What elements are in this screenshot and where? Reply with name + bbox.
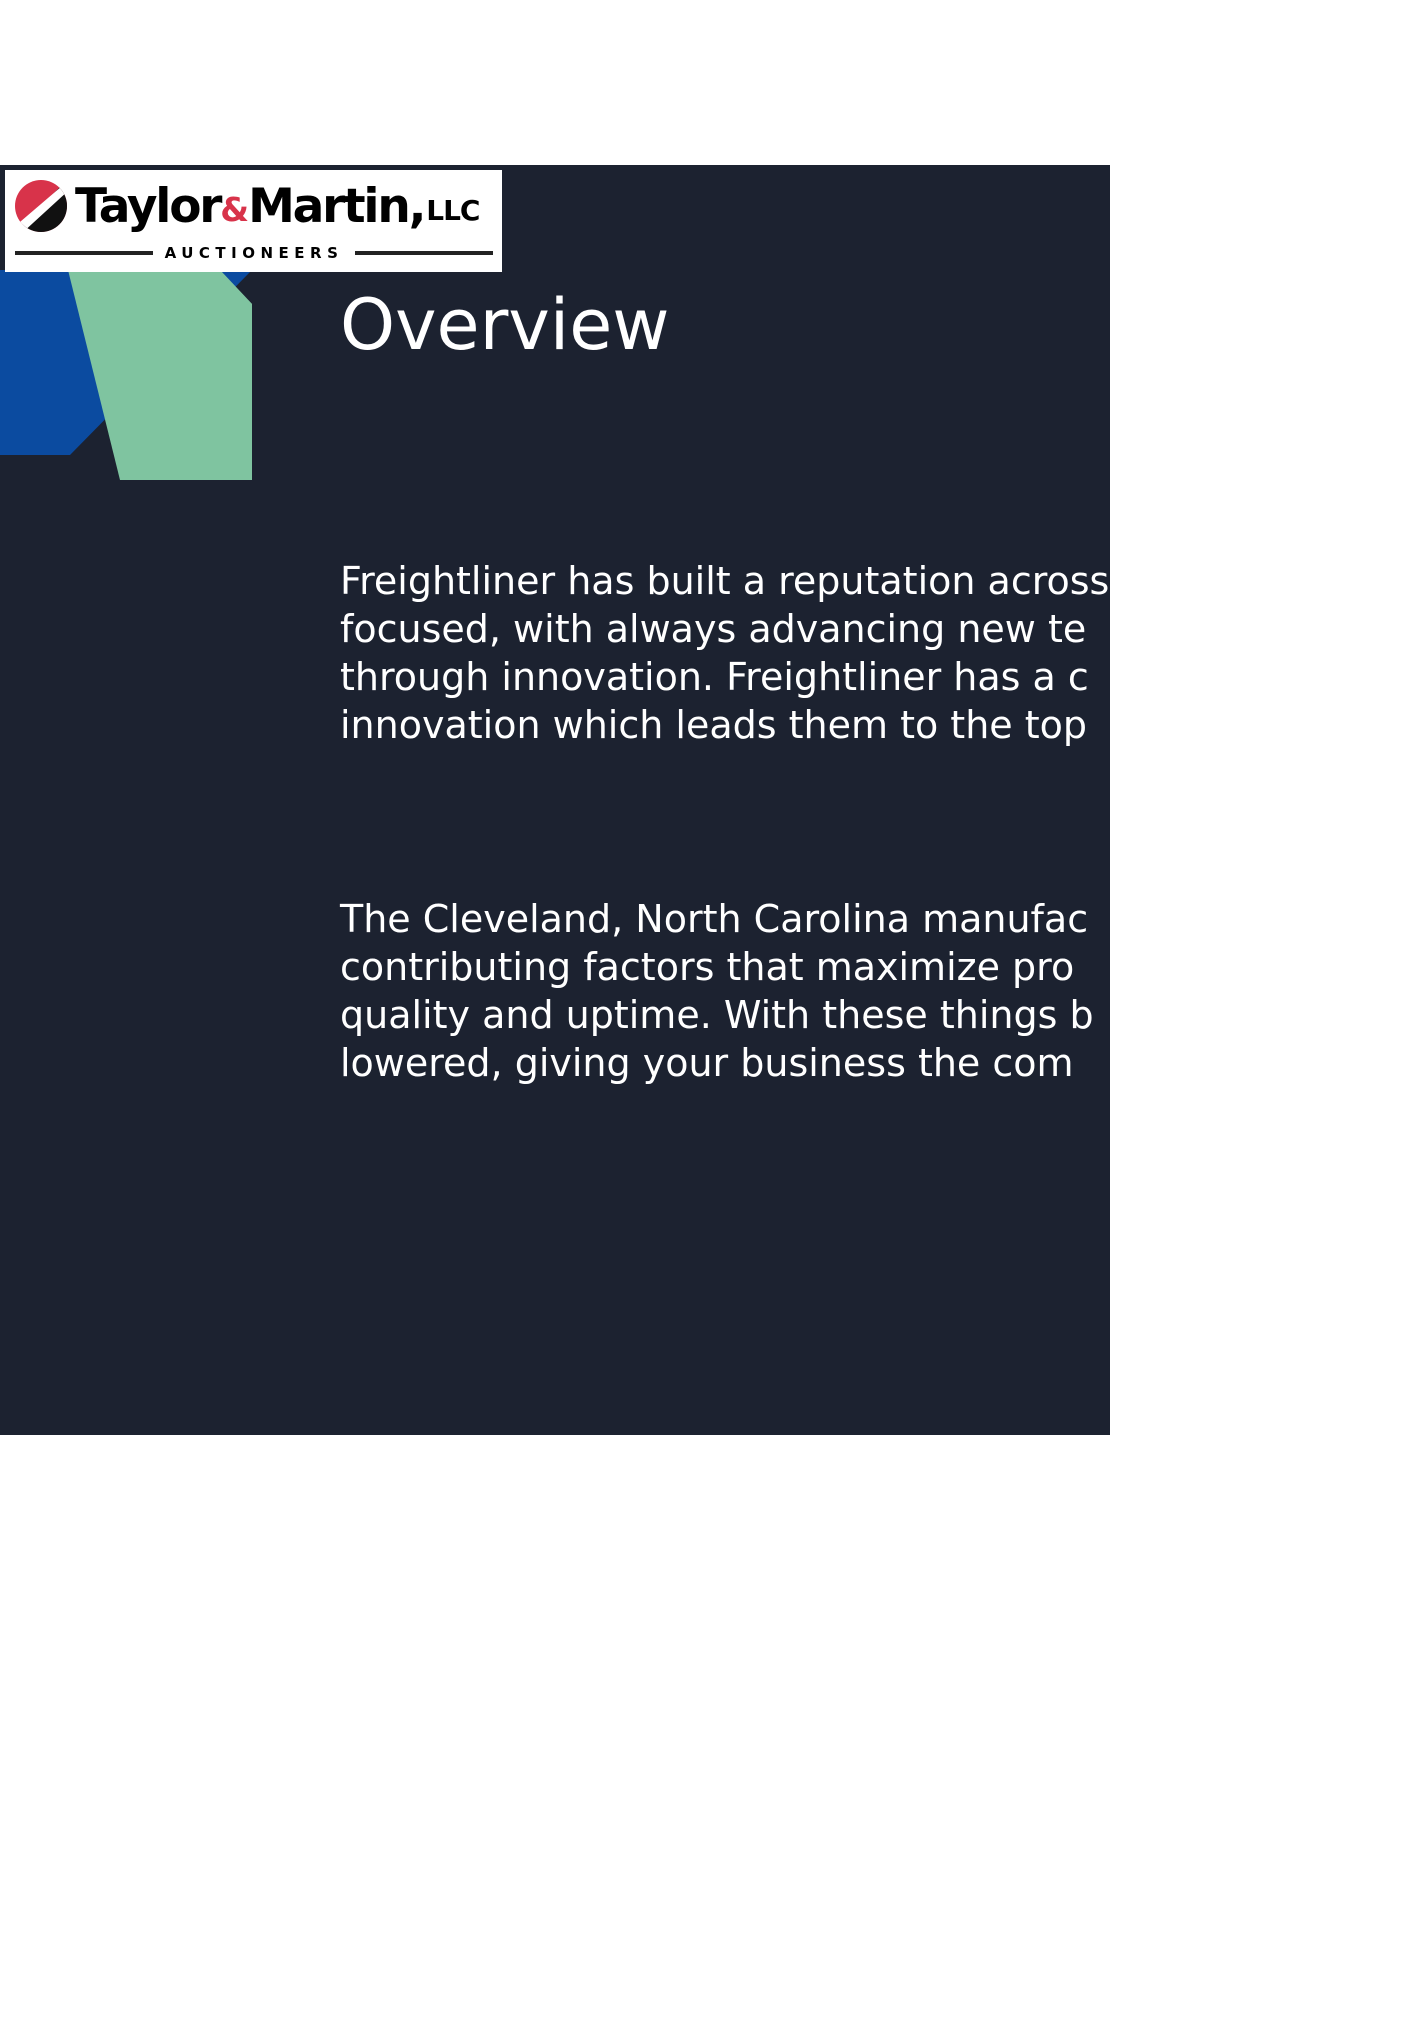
green-angled-shape (68, 270, 252, 480)
tagline-rule-left (15, 251, 153, 255)
page-title: Overview (340, 288, 670, 362)
logo-tagline-row: AUCTIONEERS (15, 242, 493, 264)
slide-body: Freightliner has built a reputation acro… (340, 557, 1110, 1087)
logo-wordmark-row: Taylor & Martin, LLC (13, 178, 479, 234)
corner-accent-shapes (0, 270, 252, 502)
presentation-slide: Taylor & Martin, LLC AUCTIONEERS Overvie… (0, 165, 1110, 1435)
paragraph-2: The Cleveland, North Carolina manufac co… (340, 895, 1110, 1087)
logo-text: Taylor & Martin, LLC (75, 183, 479, 230)
green-body-shape (68, 270, 252, 480)
logo-brand-martin: Martin, (248, 183, 424, 230)
logo-ampersand: & (220, 193, 248, 226)
taylor-martin-circle-emblem (13, 178, 69, 234)
logo-brand-taylor: Taylor (75, 183, 220, 230)
logo-entity-suffix: LLC (426, 197, 479, 225)
company-logo[interactable]: Taylor & Martin, LLC AUCTIONEERS (5, 170, 502, 272)
paragraph-1: Freightliner has built a reputation acro… (340, 557, 1110, 749)
corner-accent-svg (0, 270, 252, 502)
blue-wedge-shape (0, 270, 252, 455)
emblem-svg (13, 178, 69, 234)
tagline-rule-right (355, 251, 493, 255)
logo-tagline: AUCTIONEERS (165, 244, 344, 262)
